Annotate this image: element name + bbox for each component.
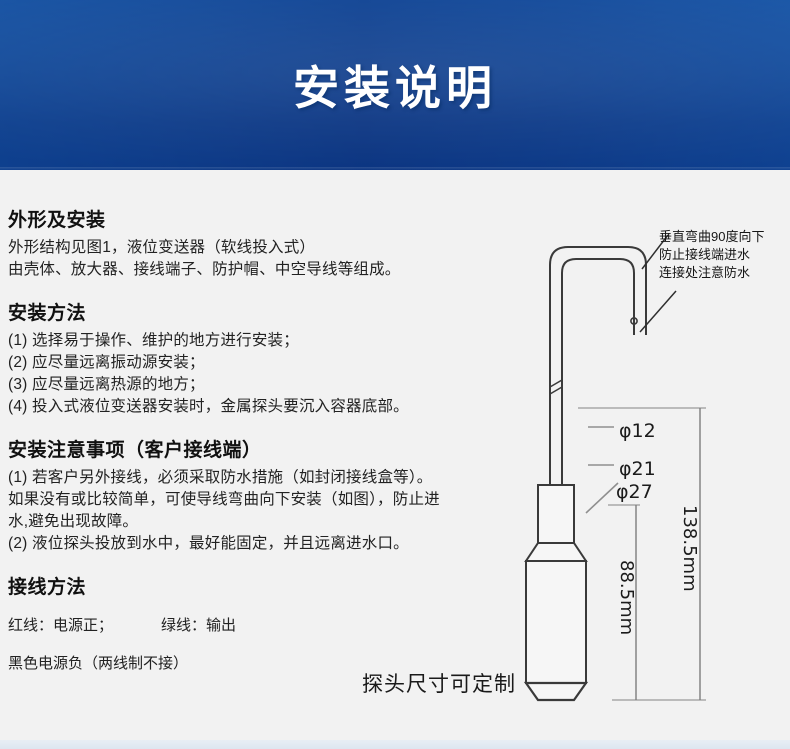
leader-line-d27 — [586, 483, 618, 513]
installation-instruction-page: 安装说明 外形及安装 外形结构见图1，液位变送器（软线投入式） 由壳体、放大器、… — [0, 0, 790, 749]
section-line: (1) 若客户另外接线，必须采取防水措施（如封闭接线盒等）。 — [8, 467, 508, 489]
page-title: 安装说明 — [0, 0, 790, 170]
cable-mid-marks — [550, 380, 562, 394]
section-line: (2) 应尽量远离振动源安装； — [8, 352, 508, 374]
section-line: 水,避免出现故障。 — [8, 511, 508, 533]
probe-bottom-cap — [526, 683, 586, 700]
cable-inner-line — [562, 259, 634, 485]
section-line: 由壳体、放大器、接线端子、防护帽、中空导线等组成。 — [8, 259, 508, 281]
diagram-note-line: 垂直弯曲90度向下 — [659, 228, 764, 246]
section-installation-cautions: 安装注意事项（客户接线端） (1) 若客户另外接线，必须采取防水措施（如封闭接线… — [8, 435, 508, 555]
wiring-red-label: 红线：电源正； — [8, 617, 113, 634]
section-wiring-method: 接线方法 红线：电源正；绿线：输出 黑色电源负（两线制不接） — [8, 572, 508, 675]
section-line: (1) 选择易于操作、维护的地方进行安装； — [8, 330, 508, 352]
length-label-total: 138.5mm — [679, 505, 700, 592]
section-line: (2) 液位探头投放到水中，最好能固定，并且远离进水口。 — [8, 533, 508, 555]
page-header-banner: 安装说明 — [0, 0, 790, 170]
section-line: 外形结构见图1，液位变送器（软线投入式） — [8, 237, 508, 259]
section-heading: 接线方法 — [8, 572, 508, 599]
section-heading: 安装注意事项（客户接线端） — [8, 435, 508, 462]
probe-upper-body — [538, 485, 574, 543]
wiring-green-label: 绿线：输出 — [161, 617, 236, 634]
length-label-body: 88.5mm — [616, 560, 637, 635]
diagram-note-block: 垂直弯曲90度向下 防止接线端进水 连接处注意防水 — [659, 228, 764, 282]
section-line: (3) 应尽量远离热源的地方； — [8, 374, 508, 396]
instruction-text-column: 外形及安装 外形结构见图1，液位变送器（软线投入式） 由壳体、放大器、接线端子、… — [8, 205, 508, 692]
probe-main-body — [526, 561, 586, 683]
probe-shoulder-taper — [526, 543, 586, 561]
diameter-label-27: φ27 — [616, 481, 653, 503]
diagram-note-line: 防止接线端进水 — [659, 246, 764, 264]
cable-terminal-end — [634, 323, 646, 335]
diameter-label-21: φ21 — [619, 458, 656, 480]
section-installation-method: 安装方法 (1) 选择易于操作、维护的地方进行安装； (2) 应尽量远离振动源安… — [8, 298, 508, 418]
custom-size-note: 探头尺寸可定制 — [362, 668, 516, 698]
wiring-positive-and-output: 红线：电源正；绿线：输出 — [8, 614, 508, 637]
section-line: 如果没有或比较简单，可使导线弯曲向下安装（如图），防止进 — [8, 489, 508, 511]
section-shape-and-installation: 外形及安装 外形结构见图1，液位变送器（软线投入式） 由壳体、放大器、接线端子、… — [8, 205, 508, 281]
diameter-label-12: φ12 — [619, 420, 656, 442]
section-line: (4) 投入式液位变送器安装时，金属探头要沉入容器底部。 — [8, 396, 508, 418]
page-bottom-band — [0, 740, 790, 749]
section-heading: 外形及安装 — [8, 205, 508, 232]
cable-outer-line — [550, 247, 646, 485]
diagram-note-line: 连接处注意防水 — [659, 264, 764, 282]
section-heading: 安装方法 — [8, 298, 508, 325]
